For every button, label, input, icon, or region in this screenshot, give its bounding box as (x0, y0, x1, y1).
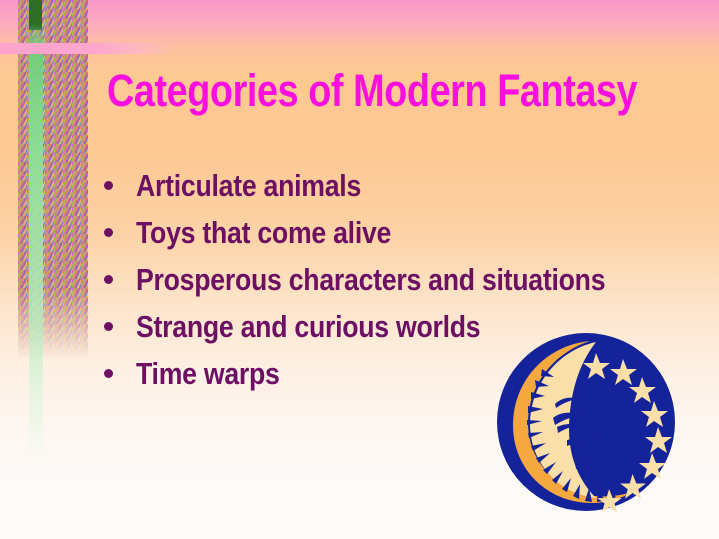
left-decorative-strip (0, 0, 110, 539)
bullet-label: Articulate animals (136, 170, 361, 202)
slide-title: Categories of Modern Fantasy (107, 68, 577, 114)
bullet-dot-icon (104, 369, 113, 378)
list-item: Toys that come alive (104, 209, 682, 256)
bullet-dot-icon (104, 228, 113, 237)
crescent-moon-and-stars-icon (495, 330, 677, 514)
list-item: Articulate animals (104, 162, 682, 209)
dark-green-accent-block (29, 0, 42, 30)
bullet-dot-icon (104, 181, 113, 190)
bullet-label: Strange and curious worlds (136, 311, 480, 343)
bullet-dot-icon (104, 322, 113, 331)
bullet-label: Toys that come alive (136, 217, 391, 249)
textured-multicolor-band (18, 0, 88, 370)
list-item: Prosperous characters and situations (104, 256, 682, 303)
bullet-label: Prosperous characters and situations (136, 264, 605, 296)
bullet-label: Time warps (136, 358, 280, 390)
bullet-dot-icon (104, 275, 113, 284)
pink-horizontal-bar (0, 43, 175, 54)
presentation-slide: Categories of Modern Fantasy Articulate … (0, 0, 719, 539)
green-vertical-band (29, 0, 43, 470)
